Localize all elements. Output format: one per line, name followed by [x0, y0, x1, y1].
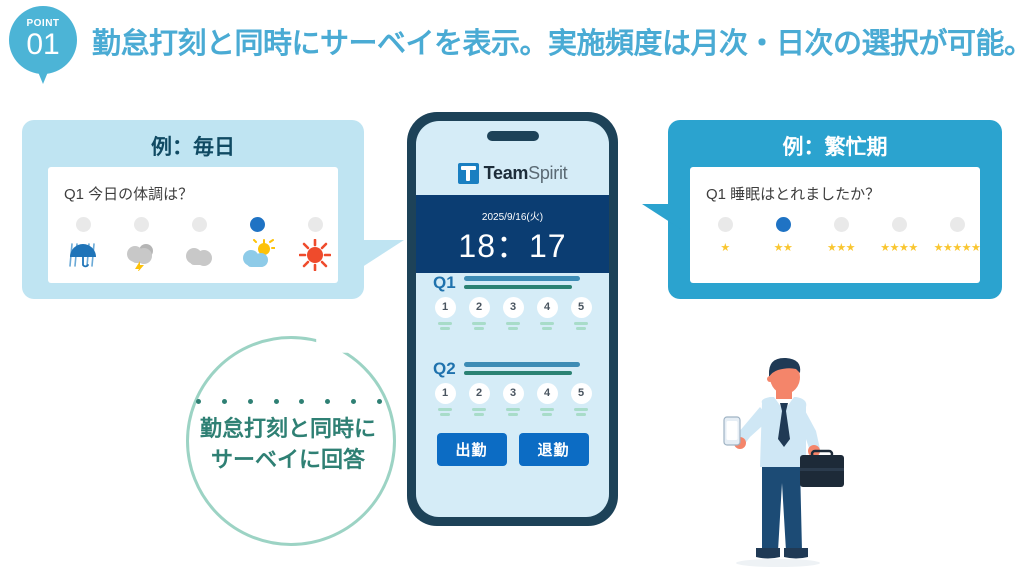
scale-underline-short [508, 413, 518, 416]
question-label-q1: Q1 [433, 273, 456, 293]
scale-circle[interactable]: 4 [537, 383, 558, 404]
scale-option-2[interactable]: 2 [467, 383, 491, 416]
attendance-buttons: 出勤 退勤 [416, 433, 609, 473]
radio-dot[interactable] [134, 217, 149, 232]
businessman-with-phone-illustration [700, 355, 860, 570]
scale-option-1[interactable]: 1 [433, 297, 457, 330]
scale-circle[interactable]: 1 [435, 297, 456, 318]
partly-sunny-icon [228, 237, 286, 271]
emphasis-dot [351, 399, 356, 404]
callout-left-title: 例：毎日 [22, 131, 364, 161]
scale-option-3[interactable]: 3 [501, 297, 525, 330]
scale-circle[interactable]: 5 [571, 297, 592, 318]
scale-underline-short [440, 413, 450, 416]
logo-text-bold: Team [484, 163, 529, 183]
scale-option-4[interactable]: 4 [535, 297, 559, 330]
radio-dot[interactable] [192, 217, 207, 232]
survey-question-q2: Q2 1 2 3 4 5 [416, 359, 609, 433]
scale-underline-short [542, 413, 552, 416]
star-rating-row: ★ ★★ ★★★ ★★★★ ★★★★★ [696, 241, 986, 254]
circle-caption: 勤怠打刻と同時に サーベイに回答 [176, 413, 400, 475]
star-icon-group: ★★★★ [880, 241, 917, 254]
radio-dot[interactable] [76, 217, 91, 232]
circle-caption-line2: サーベイに回答 [176, 444, 400, 475]
scale-underline [472, 322, 486, 325]
emphasis-dots [196, 399, 382, 404]
scale-underline-short [576, 327, 586, 330]
scale-circle[interactable]: 3 [503, 383, 524, 404]
star-rating-4: ★★★★ [870, 241, 928, 254]
scale-option-1[interactable]: 1 [433, 383, 457, 416]
emphasis-dot [325, 399, 330, 404]
badge-point-number: 01 [9, 28, 77, 62]
teamspirit-logo-icon [458, 163, 479, 184]
callout-right-radio-group[interactable] [696, 217, 986, 232]
scale-row-q1[interactable]: 1 2 3 4 5 [433, 297, 593, 330]
phone-notch [487, 131, 539, 141]
scale-row-q2[interactable]: 1 2 3 4 5 [433, 383, 593, 416]
radio-dot[interactable] [308, 217, 323, 232]
scale-underline [438, 408, 452, 411]
logo-text-light: Spirit [528, 163, 567, 183]
scale-underline [574, 408, 588, 411]
scale-underline [472, 408, 486, 411]
scale-option-2[interactable]: 2 [467, 297, 491, 330]
scale-circle[interactable]: 1 [435, 383, 456, 404]
placeholder-bar-secondary [464, 285, 572, 289]
radio-dot-selected[interactable] [250, 217, 265, 232]
callout-right-card: Q1 睡眠はとれましたか？ ★ ★★ ★★★ ★★★★ ★★★★★ [690, 167, 980, 283]
radio-option-2[interactable] [754, 217, 812, 232]
radio-dot[interactable] [950, 217, 965, 232]
thunderstorm-icon [112, 237, 170, 271]
placeholder-bar-primary [464, 362, 580, 367]
scale-circle[interactable]: 2 [469, 297, 490, 318]
scale-underline-short [474, 327, 484, 330]
page-title: 勤怠打刻と同時にサーベイを表示。実施頻度は月次・日次の選択が可能。 [92, 20, 1024, 62]
slide-root: POINT 01 勤怠打刻と同時にサーベイを表示。実施頻度は月次・日次の選択が可… [0, 0, 1024, 576]
star-rating-3: ★★★ [812, 241, 870, 254]
callout-right-question: Q1 睡眠はとれましたか？ [706, 183, 880, 204]
callout-right-title: 例：繁忙期 [668, 131, 1002, 161]
scale-circle[interactable]: 2 [469, 383, 490, 404]
clock-in-button[interactable]: 出勤 [437, 433, 507, 466]
question-text-placeholder-q1 [464, 276, 580, 289]
callout-left-question: Q1 今日の体調は？ [64, 183, 193, 204]
scale-underline-short [576, 413, 586, 416]
rain-umbrella-icon [54, 237, 112, 271]
radio-option-3[interactable] [812, 217, 870, 232]
app-logo: TeamSpirit [416, 151, 609, 195]
smartphone-mockup: TeamSpirit 2025/9/16(火) 18：17 Q1 1 2 [407, 112, 618, 526]
radio-dot-selected[interactable] [776, 217, 791, 232]
star-icon-group: ★★★★★ [934, 241, 981, 254]
star-rating-5: ★★★★★ [928, 241, 986, 254]
scale-underline-short [474, 413, 484, 416]
point-badge: POINT 01 [9, 6, 77, 86]
emphasis-dot [274, 399, 279, 404]
scale-underline [506, 408, 520, 411]
callout-left-radio-group[interactable] [54, 217, 344, 232]
callout-busy-season-example: 例：繁忙期 Q1 睡眠はとれましたか？ ★ ★★ ★★★ ★★★★ ★★★★★ [668, 120, 1002, 299]
scale-underline-short [508, 327, 518, 330]
radio-option-5[interactable] [928, 217, 986, 232]
star-icon-group: ★★ [774, 241, 793, 254]
callout-daily-example: 例：毎日 Q1 今日の体調は？ [22, 120, 364, 299]
clock-out-button[interactable]: 退勤 [519, 433, 589, 466]
scale-underline [540, 322, 554, 325]
clock-panel: 2025/9/16(火) 18：17 [416, 195, 609, 273]
radio-option-1[interactable] [54, 217, 112, 232]
callout-right-tail-icon [642, 204, 682, 251]
scale-option-4[interactable]: 4 [535, 383, 559, 416]
callout-left-tail-icon [364, 240, 404, 287]
scale-option-5[interactable]: 5 [569, 383, 593, 416]
radio-dot[interactable] [718, 217, 733, 232]
phone-screen: TeamSpirit 2025/9/16(火) 18：17 Q1 1 2 [416, 121, 609, 517]
survey-question-q1: Q1 1 2 3 4 5 [416, 273, 609, 347]
radio-option-5[interactable] [286, 217, 344, 232]
callout-left-card: Q1 今日の体調は？ [48, 167, 338, 283]
scale-underline-short [542, 327, 552, 330]
survey-section: Q1 1 2 3 4 5 Q2 [416, 273, 609, 433]
scale-underline [574, 322, 588, 325]
scale-option-3[interactable]: 3 [501, 383, 525, 416]
emphasis-dot [222, 399, 227, 404]
emphasis-dot [299, 399, 304, 404]
scale-underline [438, 322, 452, 325]
emphasis-dot [377, 399, 382, 404]
radio-option-4[interactable] [228, 217, 286, 232]
star-icon-group: ★★★ [827, 241, 855, 254]
scale-circle[interactable]: 3 [503, 297, 524, 318]
clock-time: 18：17 [416, 221, 609, 267]
scale-circle[interactable]: 5 [571, 383, 592, 404]
radio-dot[interactable] [892, 217, 907, 232]
scale-circle[interactable]: 4 [537, 297, 558, 318]
circle-caption-line1: 勤怠打刻と同時に [176, 413, 400, 444]
star-rating-2: ★★ [754, 241, 812, 254]
scale-option-5[interactable]: 5 [569, 297, 593, 330]
radio-option-1[interactable] [696, 217, 754, 232]
radio-dot[interactable] [834, 217, 849, 232]
sun-icon [286, 237, 344, 271]
radio-option-4[interactable] [870, 217, 928, 232]
radio-option-3[interactable] [170, 217, 228, 232]
app-logo-text: TeamSpirit [484, 163, 568, 184]
placeholder-bar-secondary [464, 371, 572, 375]
weather-icon-row [54, 237, 344, 271]
scale-underline [540, 408, 554, 411]
star-icon-group: ★ [720, 241, 729, 254]
emphasis-dot [248, 399, 253, 404]
emphasis-dot [196, 399, 201, 404]
scale-underline-short [440, 327, 450, 330]
scale-underline [506, 322, 520, 325]
question-label-q2: Q2 [433, 359, 456, 379]
cloud-icon [170, 237, 228, 271]
question-text-placeholder-q2 [464, 362, 580, 375]
placeholder-bar-primary [464, 276, 580, 281]
radio-option-2[interactable] [112, 217, 170, 232]
star-rating-1: ★ [696, 241, 754, 254]
